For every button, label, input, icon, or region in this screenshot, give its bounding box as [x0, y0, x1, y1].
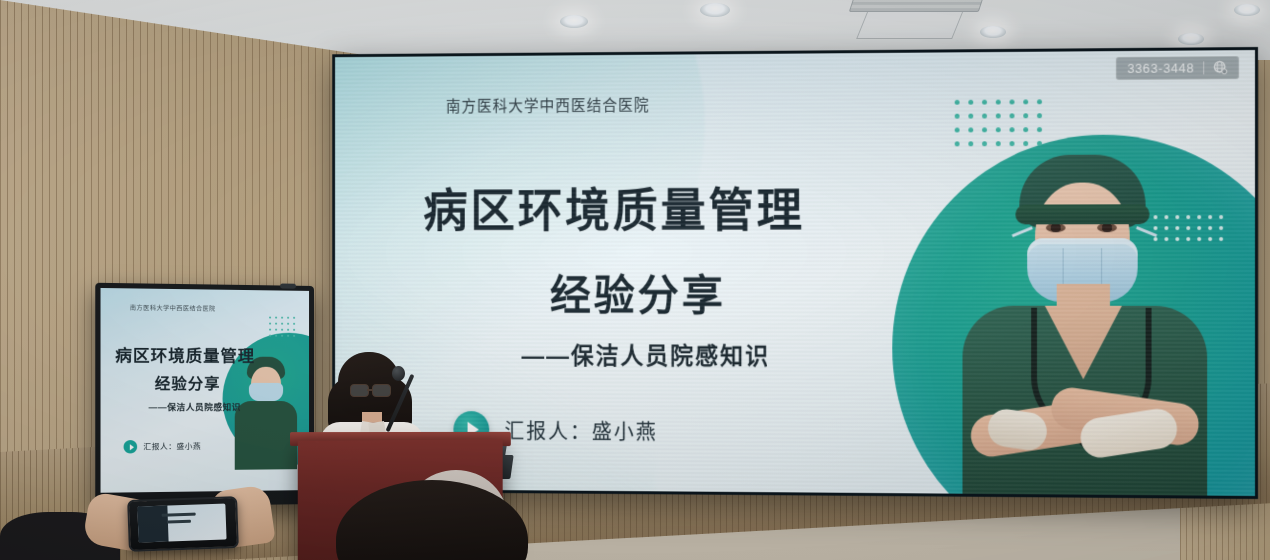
presentation-room-scene: 南方医科大学中西医结合医院 病区环境质量管理 经验分享 ——保洁人员院感知识 汇… [0, 0, 1270, 560]
nurse-mask-strap-left [1012, 226, 1033, 237]
nurse-eye-right [1097, 223, 1117, 232]
smartphone-screen [137, 504, 226, 543]
slide-title-line-1: 病区环境质量管理 [423, 172, 805, 240]
presenter-glasses-right [372, 384, 391, 397]
smartphone-screen-text-line-1 [162, 513, 196, 517]
ceiling-downlight [700, 3, 730, 17]
slide-title-line-2: 经验分享 [550, 262, 726, 323]
monitor-slide-presenter-row: 汇报人：盛小燕 [124, 440, 202, 454]
screen-id-badge[interactable]: 3363-3448 [1116, 56, 1239, 80]
monitor-play-icon [124, 440, 138, 453]
screen-id-number: 3363-3448 [1127, 60, 1194, 75]
ceiling-downlight [560, 15, 588, 28]
monitor-slide-title-line-2: 经验分享 [155, 373, 221, 394]
dot-grid-right-decoration [1154, 215, 1224, 241]
smartphone-screen-text-line-2 [167, 520, 191, 524]
dot-grid-top-decoration [955, 99, 1042, 146]
presenter-hair [338, 352, 400, 416]
badge-separator [1203, 61, 1204, 74]
microphone-head [392, 366, 405, 381]
monitor-slide-nurse-figure [229, 357, 303, 470]
monitor-slide-presenter-label: 汇报人：盛小燕 [143, 441, 201, 453]
slide-presenter-label: 汇报人：盛小燕 [504, 415, 657, 445]
confidence-monitor[interactable]: 南方医科大学中西医结合医院 病区环境质量管理 经验分享 ——保洁人员院感知识 汇… [95, 283, 314, 508]
ceiling-downlight [1178, 33, 1204, 45]
nurse-eye-left [1046, 223, 1066, 232]
presenter-glasses-bridge [367, 389, 373, 391]
nurse-figure-image [937, 146, 1233, 496]
ceiling-access-panel [856, 10, 964, 39]
ceiling-downlight [1234, 4, 1260, 16]
monitor-slide-subtitle: ——保洁人员院感知识 [149, 401, 241, 413]
network-globe-icon [1213, 60, 1228, 75]
smartphone-recording[interactable] [127, 496, 239, 552]
monitor-slide-dot-grid [269, 317, 295, 337]
slide-organization-name: 南方医科大学中西医结合医院 [446, 94, 650, 117]
slide-subtitle: ——保洁人员院感知识 [521, 336, 770, 371]
nurse-cap-band [1015, 204, 1149, 224]
presentation-slide: 南方医科大学中西医结合医院 病区环境质量管理 经验分享 ——保洁人员院感知识 汇… [335, 50, 1255, 496]
smartphone-screen-dark-area [137, 506, 168, 543]
ceiling-downlight [980, 26, 1006, 38]
monitor-slide-title-line-1: 病区环境质量管理 [115, 342, 255, 367]
monitor-mirrored-slide: 南方医科大学中西医结合医院 病区环境质量管理 经验分享 ——保洁人员院感知识 汇… [101, 288, 310, 493]
monitor-slide-organization: 南方医科大学中西医结合医院 [130, 303, 216, 313]
monitor-camera-icon [280, 283, 296, 288]
ceiling-hvac-vent [849, 0, 985, 12]
